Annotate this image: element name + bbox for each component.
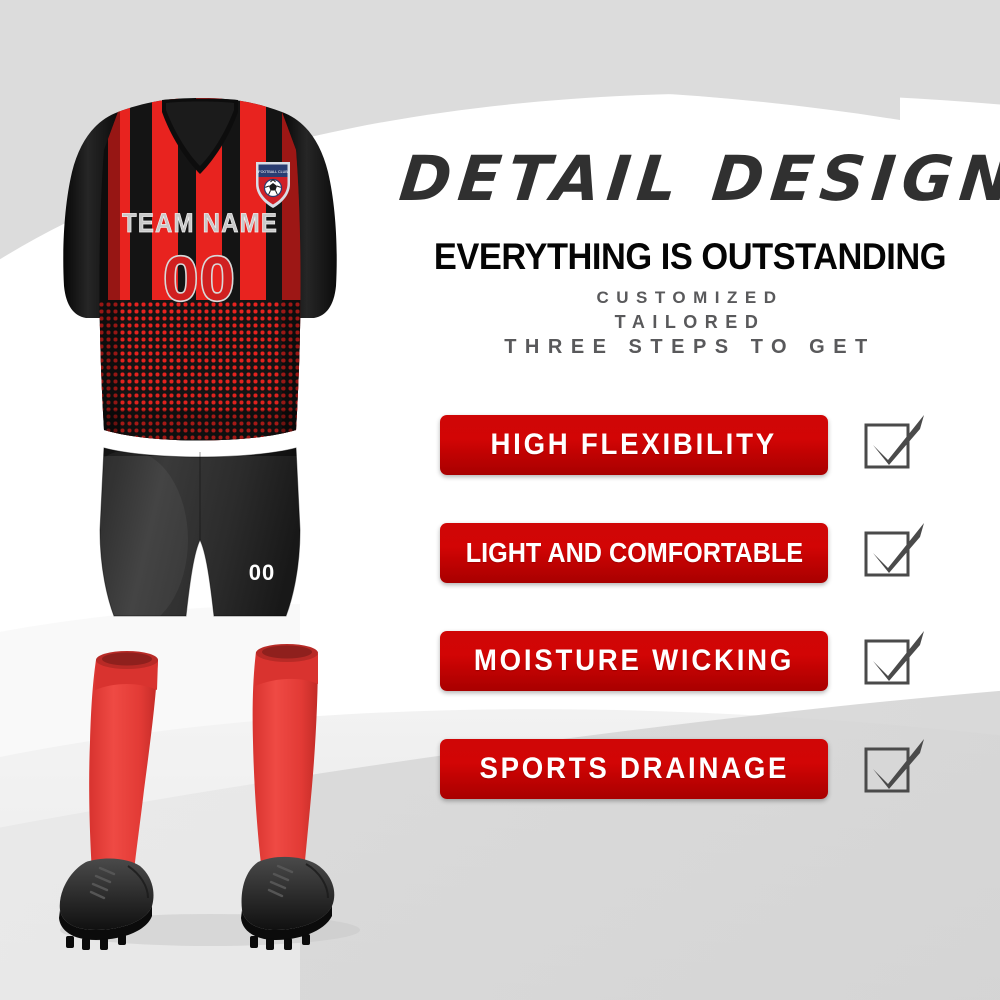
jersey-number: 00 <box>164 245 237 314</box>
feature-badge-light-and-comfortable[interactable]: LIGHT AND COMFORTABLE <box>440 523 828 583</box>
feature-label: LIGHT AND COMFORTABLE <box>465 537 802 569</box>
page-title: DETAIL DESIGN <box>397 148 984 210</box>
feature-label: MOISTURE WICKING <box>474 644 794 678</box>
feature-row: LIGHT AND COMFORTABLE <box>440 523 980 583</box>
feature-row: HIGH FLEXIBILITY <box>440 415 980 475</box>
content-column: DETAIL DESIGN EVERYTHING IS OUTSTANDING … <box>400 0 1000 1000</box>
tagline-customized: CUSTOMIZED <box>400 288 980 308</box>
checkbox-checked-icon[interactable] <box>862 739 928 799</box>
uniform-illustration: FOOTBALL CLUB TEAM NAME 00 00 <box>0 0 400 1000</box>
feature-badge-high-flexibility[interactable]: HIGH FLEXIBILITY <box>440 415 828 475</box>
right-cleat <box>241 857 334 950</box>
left-cleat <box>59 859 154 950</box>
feature-list: HIGH FLEXIBILITY LIGHT AND COMFORTABLE <box>440 415 980 847</box>
feature-badge-sports-drainage[interactable]: SPORTS DRAINAGE <box>440 739 828 799</box>
feature-badge-moisture-wicking[interactable]: MOISTURE WICKING <box>440 631 828 691</box>
feature-row: MOISTURE WICKING <box>440 631 980 691</box>
jersey-team-name: TEAM NAME <box>122 209 278 239</box>
checkbox-checked-icon[interactable] <box>862 415 928 475</box>
checkbox-checked-icon[interactable] <box>862 523 928 583</box>
tagline-tailored: TAILORED <box>400 312 980 333</box>
feature-row: SPORTS DRAINAGE <box>440 739 980 799</box>
checkbox-checked-icon[interactable] <box>862 631 928 691</box>
shorts-number: 00 <box>249 560 275 585</box>
svg-text:FOOTBALL CLUB: FOOTBALL CLUB <box>258 170 288 174</box>
page-subtitle: EVERYTHING IS OUTSTANDING <box>420 238 959 275</box>
poster-stage: FOOTBALL CLUB TEAM NAME 00 00 <box>0 0 1000 1000</box>
tagline-three-steps: THREE STEPS TO GET <box>400 336 980 359</box>
feature-label: HIGH FLEXIBILITY <box>491 428 777 462</box>
feature-label: SPORTS DRAINAGE <box>479 752 789 786</box>
